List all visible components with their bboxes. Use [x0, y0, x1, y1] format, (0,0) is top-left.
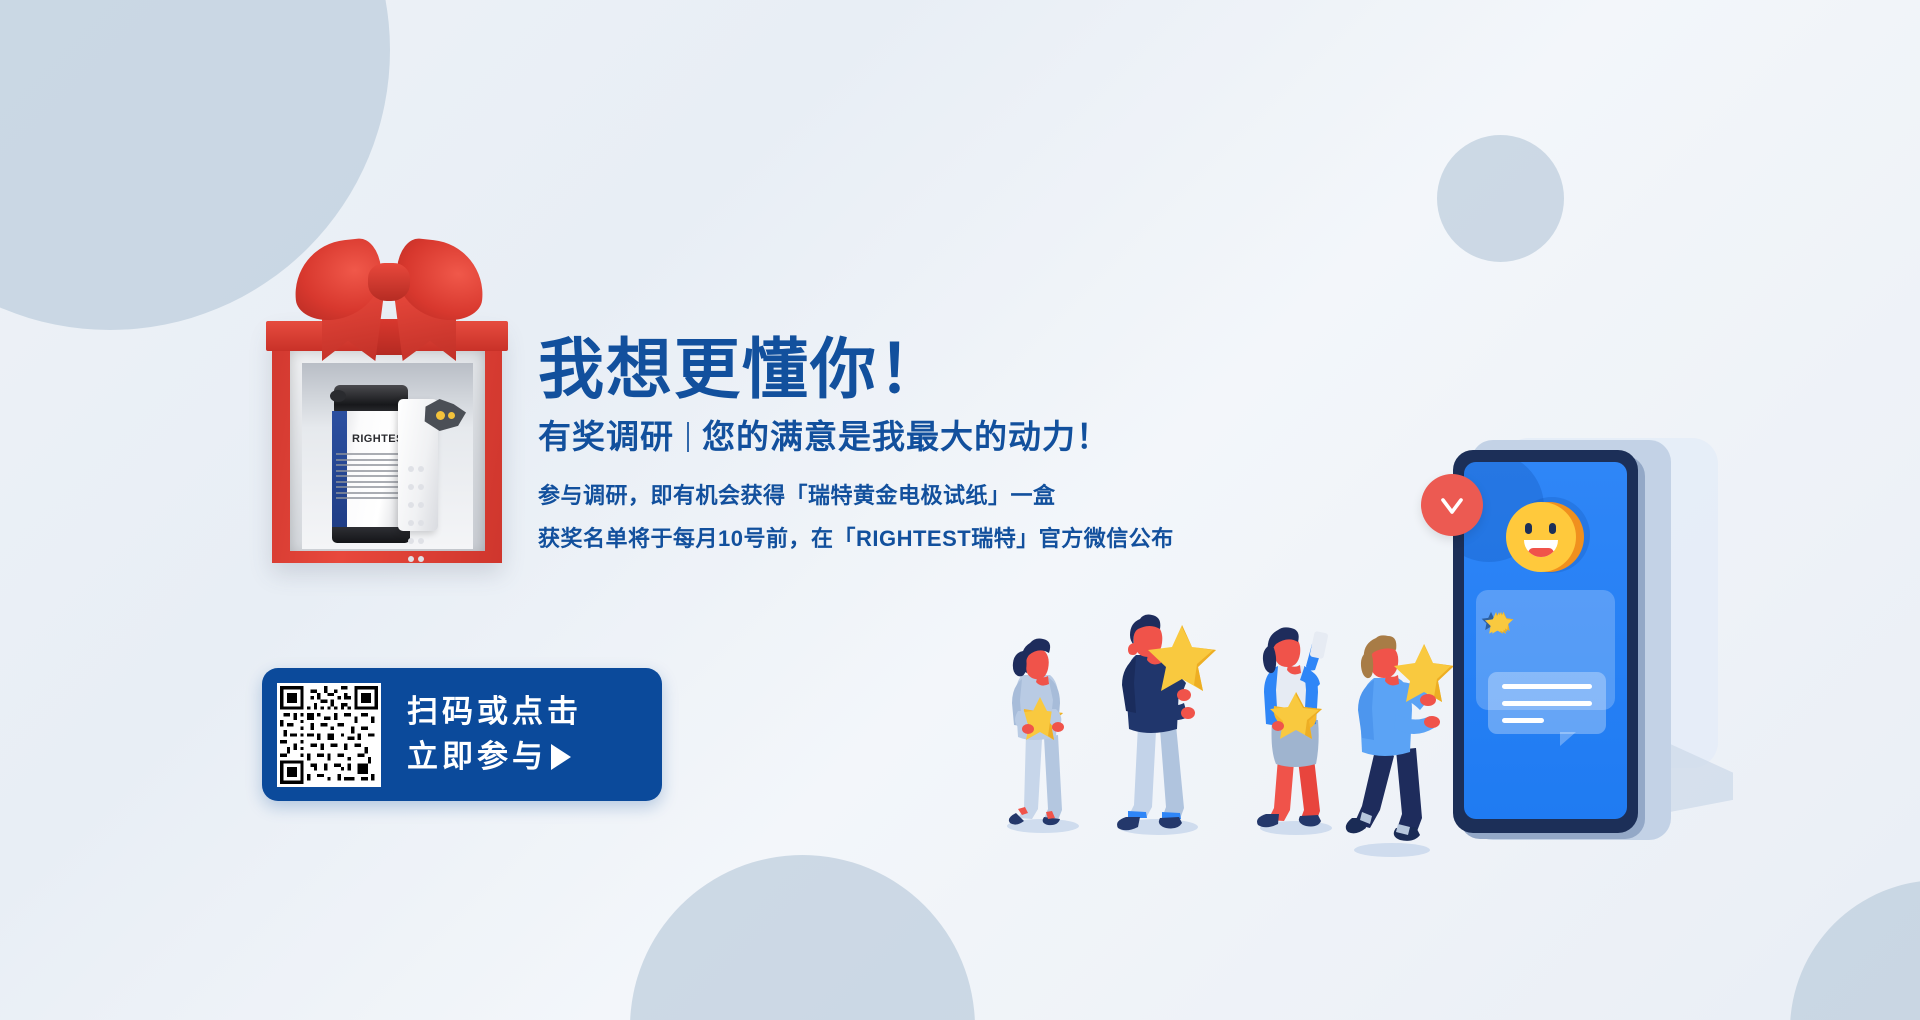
- cta-line-2-label: 立即参与: [407, 735, 547, 780]
- person-man-holding-big-star: [1098, 595, 1228, 835]
- cta-line-1: 扫码或点击: [407, 690, 582, 735]
- subheadline-right: 您的满意是我最大的动力！: [702, 420, 1110, 453]
- ribbon-bow-icon: [294, 233, 484, 341]
- smiley-face-icon: [1506, 500, 1584, 578]
- scan-or-click-cta-button[interactable]: 扫码或点击 立即参与: [262, 668, 662, 801]
- play-arrow-icon: [551, 744, 571, 770]
- body-line-1: 参与调研，即有机会获得「瑞特黄金电极试纸」一盒: [538, 475, 1358, 518]
- review-comment-bubble: [1488, 672, 1606, 734]
- promotional-banner: RIGHTEST 我想更懂你！ 有奖调研: [0, 0, 1920, 1020]
- phone-rating-illustration: [1443, 448, 1743, 868]
- decor-circle-bottom-right: [1790, 880, 1920, 1020]
- qr-code[interactable]: [277, 683, 381, 787]
- subheadline: 有奖调研 您的满意是我最大的动力！: [538, 420, 1358, 453]
- test-strip-dots: [406, 461, 432, 569]
- gift-box-illustration: RIGHTEST: [272, 233, 502, 563]
- body-line-2: 获奖名单将于每月10号前，在「RIGHTEST瑞特」官方微信公布: [538, 518, 1358, 561]
- headline: 我想更懂你！: [538, 336, 1358, 402]
- ribbon-knot: [368, 263, 410, 301]
- cta-line-2: 立即参与: [407, 735, 582, 780]
- cta-text: 扫码或点击 立即参与: [407, 690, 582, 780]
- bottle-label-text-lines: [336, 453, 406, 503]
- decor-circle-right: [1437, 135, 1564, 262]
- checkmark-icon: [1435, 488, 1469, 522]
- bottle-cap: [334, 385, 408, 413]
- person-woman-ponytail-with-star: [988, 613, 1098, 833]
- check-badge: [1421, 474, 1483, 536]
- decor-circle-bottom: [630, 855, 975, 1020]
- bottle-base: [332, 527, 410, 543]
- subheadline-left: 有奖调研: [538, 420, 674, 453]
- copy-block: 我想更懂你！ 有奖调研 您的满意是我最大的动力！ 参与调研，即有机会获得「瑞特黄…: [538, 336, 1358, 561]
- subheadline-divider: [687, 422, 689, 452]
- bottle-cap-tab: [330, 390, 346, 402]
- phone-screen: [1464, 462, 1627, 819]
